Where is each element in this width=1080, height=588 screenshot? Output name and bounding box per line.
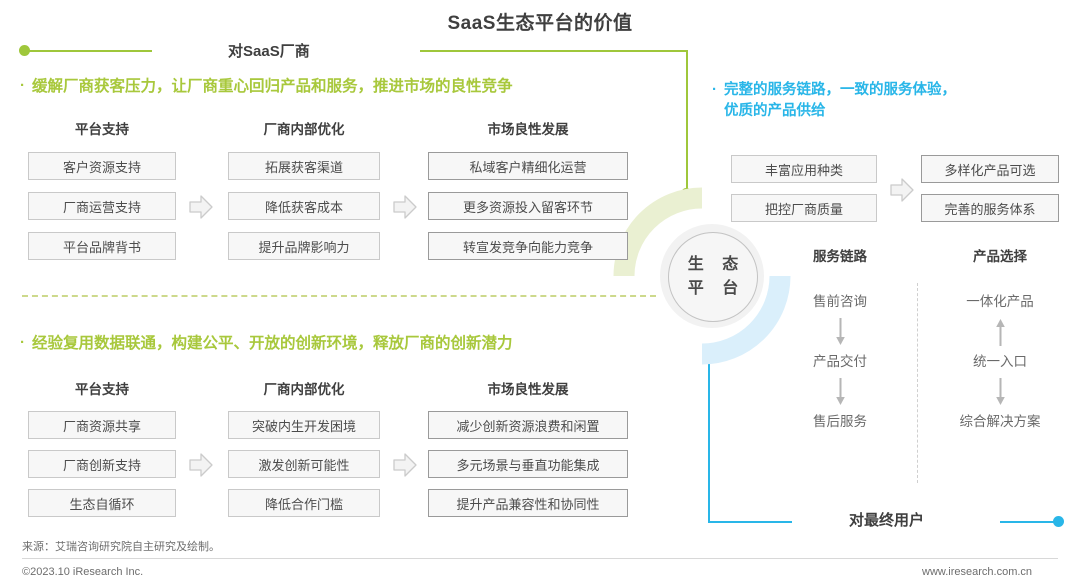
website-link[interactable]: www.iresearch.com.cn: [922, 566, 1032, 578]
blue-line-bottom-left-segment: [708, 521, 792, 523]
box-right-c2-r1[interactable]: 多样化产品可选: [921, 155, 1059, 183]
box-s1-c3-r3[interactable]: 转宣发竞争向能力竞争: [428, 232, 628, 260]
box-s1-c2-r2[interactable]: 降低获客成本: [228, 192, 380, 220]
bullet-icon: ·: [20, 76, 25, 95]
left-section-1-headline: 缓解厂商获客压力，让厂商重心回归产品和服务，推进市场的良性竞争: [32, 76, 513, 97]
box-s2-c2-r1[interactable]: 突破内生开发困境: [228, 411, 380, 439]
box-s2-c2-r2[interactable]: 激发创新可能性: [228, 450, 380, 478]
ecosystem-platform-circle-inner: 生 态 平 台: [668, 232, 758, 322]
flow-header-service-chain: 服务链路: [770, 245, 910, 265]
col-header-s1-c3: 市场良性发展: [428, 118, 628, 138]
green-line-left-segment: [28, 50, 152, 52]
chevron-right-icon-s1-a1: [188, 192, 214, 222]
col-header-s1-c1: 平台支持: [28, 118, 176, 138]
chevron-right-icon-right: [889, 175, 915, 205]
box-s1-c3-r2[interactable]: 更多资源投入留客环节: [428, 192, 628, 220]
copyright-note: ©2023.10 iResearch Inc.: [22, 566, 143, 578]
flow-item-service-2: 产品交付: [770, 350, 910, 370]
box-right-c2-r2[interactable]: 完善的服务体系: [921, 194, 1059, 222]
box-s1-c1-r2[interactable]: 厂商运营支持: [28, 192, 176, 220]
chevron-right-icon-s1-a2: [392, 192, 418, 222]
flow-item-product-3: 综合解决方案: [925, 410, 1075, 430]
left-branch-label: 对SaaS厂商: [228, 40, 310, 61]
infographic-canvas: SaaS生态平台的价值 对SaaS厂商 对最终用户 生 态 平 台 · 缓解厂商…: [0, 0, 1080, 588]
arrow-down-icon-product-2: [995, 377, 1006, 407]
col-header-s2-c2: 厂商内部优化: [228, 378, 380, 398]
box-s1-c1-r1[interactable]: 客户资源支持: [28, 152, 176, 180]
box-s2-c3-r2[interactable]: 多元场景与垂直功能集成: [428, 450, 628, 478]
circle-label-line1: 生 态: [681, 253, 745, 277]
box-s1-c2-r1[interactable]: 拓展获客渠道: [228, 152, 380, 180]
blue-line-vertical: [708, 352, 710, 523]
arrow-down-icon-service-2: [835, 377, 846, 407]
flow-item-product-2: 统一入口: [925, 350, 1075, 370]
circle-label-line2: 平 台: [681, 277, 745, 301]
col-header-s1-c2: 厂商内部优化: [228, 118, 380, 138]
box-s1-c1-r3[interactable]: 平台品牌背书: [28, 232, 176, 260]
box-s2-c1-r3[interactable]: 生态自循环: [28, 489, 176, 517]
blue-branch-end-dot: [1053, 516, 1064, 527]
flow-column-divider: [917, 283, 918, 483]
right-headline-line-1: 完整的服务链路，一致的服务体验，: [724, 80, 956, 101]
box-s2-c1-r1[interactable]: 厂商资源共享: [28, 411, 176, 439]
ecosystem-platform-circle: 生 态 平 台: [660, 224, 764, 328]
arrow-up-icon-product-1: [995, 317, 1006, 347]
source-note: 来源：艾瑞咨询研究院自主研究及绘制。: [22, 538, 220, 554]
col-header-s2-c1: 平台支持: [28, 378, 176, 398]
chevron-right-icon-s2-a1: [188, 450, 214, 480]
bottom-branch-label: 对最终用户: [849, 509, 924, 530]
right-headline-line-2: 优质的产品供给: [724, 101, 956, 122]
page-title: SaaS生态平台的价值: [0, 8, 1080, 35]
box-s2-c2-r3[interactable]: 降低合作门槛: [228, 489, 380, 517]
box-s1-c3-r1[interactable]: 私域客户精细化运营: [428, 152, 628, 180]
flow-item-service-1: 售前咨询: [770, 290, 910, 310]
flow-header-product-choice: 产品选择: [925, 245, 1075, 265]
left-section-1-headline-row: · 缓解厂商获客压力，让厂商重心回归产品和服务，推进市场的良性竞争: [20, 76, 513, 97]
section-divider: [22, 295, 656, 297]
box-s1-c2-r3[interactable]: 提升品牌影响力: [228, 232, 380, 260]
left-section-2-headline: 经验复用数据联通，构建公平、开放的创新环境，释放厂商的创新潜力: [32, 333, 513, 354]
green-line-right-segment: [420, 50, 688, 52]
box-s2-c3-r1[interactable]: 减少创新资源浪费和闲置: [428, 411, 628, 439]
col-header-s2-c3: 市场良性发展: [428, 378, 628, 398]
right-headline-block: 完整的服务链路，一致的服务体验， 优质的产品供给: [724, 80, 956, 122]
chevron-right-icon-s2-a2: [392, 450, 418, 480]
arrow-down-icon-service-1: [835, 317, 846, 347]
left-section-2-headline-row: · 经验复用数据联通，构建公平、开放的创新环境，释放厂商的创新潜力: [20, 333, 513, 354]
flow-item-service-3: 售后服务: [770, 410, 910, 430]
box-s2-c1-r2[interactable]: 厂商创新支持: [28, 450, 176, 478]
bullet-icon: ·: [712, 80, 717, 99]
green-line-vertical: [686, 50, 688, 193]
box-right-c1-r2[interactable]: 把控厂商质量: [731, 194, 877, 222]
box-right-c1-r1[interactable]: 丰富应用种类: [731, 155, 877, 183]
blue-line-bottom-right-segment: [1000, 521, 1058, 523]
bullet-icon: ·: [20, 333, 25, 352]
right-headline-row: · 完整的服务链路，一致的服务体验， 优质的产品供给: [712, 80, 1062, 122]
flow-item-product-1: 一体化产品: [925, 290, 1075, 310]
box-s2-c3-r3[interactable]: 提升产品兼容性和协同性: [428, 489, 628, 517]
footer-divider: [22, 558, 1058, 559]
